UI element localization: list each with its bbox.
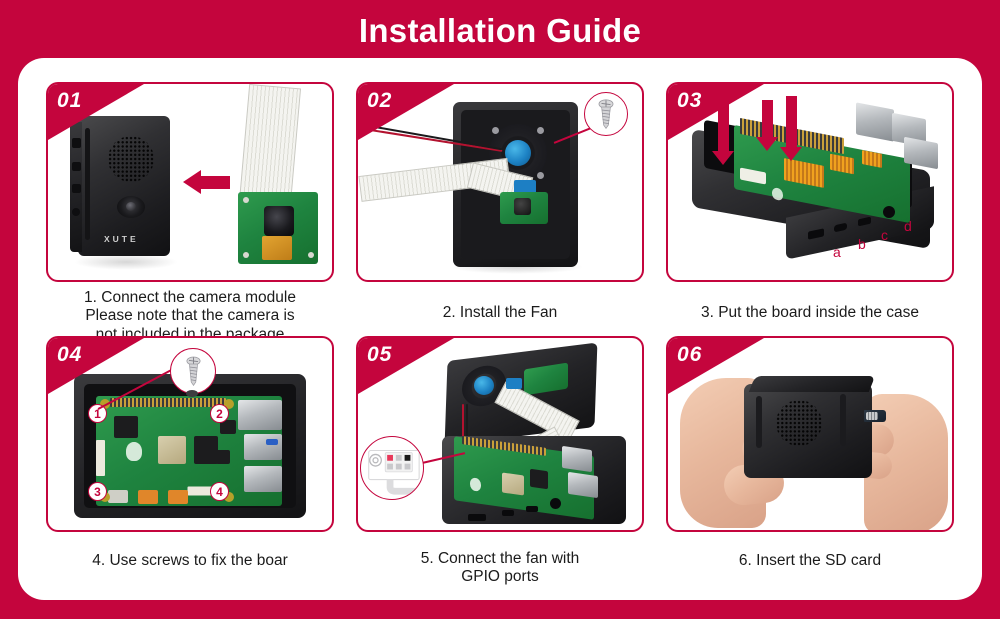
steps-grid: 01 XUTE bbox=[46, 82, 954, 584]
usb2-ports bbox=[244, 466, 282, 492]
port-sd-slot bbox=[468, 514, 486, 521]
caption-line: 6. Insert the SD card bbox=[668, 552, 952, 570]
port-label-a: a bbox=[833, 244, 841, 260]
port-audio-jack bbox=[883, 206, 895, 218]
camera-mount-hole-tl bbox=[243, 197, 249, 203]
fan-screw-tr bbox=[537, 127, 544, 134]
caption-line: Please note that the camera is bbox=[48, 307, 332, 325]
cpu-chip bbox=[502, 472, 524, 495]
step-badge-02: 02 bbox=[367, 89, 392, 113]
insert-arrow-icon-2 bbox=[762, 100, 773, 138]
gpio-header bbox=[110, 398, 226, 407]
pi-logo bbox=[470, 477, 481, 492]
step-panel-01[interactable]: 01 XUTE bbox=[46, 82, 334, 282]
camera-ribbon-cable bbox=[239, 84, 301, 206]
camera-module-lens bbox=[514, 198, 531, 215]
port-label-b: b bbox=[858, 236, 866, 252]
pmic-chip bbox=[216, 450, 230, 464]
step-caption-03: 3. Put the board inside the case bbox=[666, 304, 954, 322]
header-bar: Installation Guide bbox=[0, 0, 1000, 62]
step-caption-04: 4. Use screws to fix the boar bbox=[46, 552, 334, 570]
caption-line: GPIO ports bbox=[358, 568, 642, 586]
port-hdmi-1 bbox=[72, 162, 81, 171]
port-micro-hdmi-1 bbox=[502, 510, 514, 516]
usb3-blue-insert bbox=[266, 439, 278, 445]
case-shadow bbox=[450, 260, 584, 274]
step-cell-01: 01 XUTE bbox=[46, 82, 334, 330]
camera-lens-glass bbox=[126, 202, 136, 211]
port-audio-jack bbox=[550, 498, 561, 509]
usbc-power-port bbox=[108, 490, 128, 503]
case-standoff bbox=[186, 390, 198, 397]
vent-slot bbox=[85, 128, 90, 240]
step-panel-05[interactable]: 05 bbox=[356, 336, 644, 532]
port-audio bbox=[72, 208, 80, 216]
step-badge-01: 01 bbox=[57, 89, 82, 113]
screw-callout-circle[interactable] bbox=[170, 348, 216, 394]
step-panel-06[interactable]: 06 bbox=[666, 336, 954, 532]
step-badge-05: 05 bbox=[367, 343, 392, 367]
usb-ports-lower bbox=[568, 472, 598, 498]
screw-callout-circle[interactable] bbox=[584, 92, 628, 136]
step-cell-06: 06 6. Insert bbox=[666, 336, 954, 584]
step-caption-05: 5. Connect the fan with GPIO ports bbox=[356, 550, 644, 587]
port-hdmi-2 bbox=[72, 184, 81, 193]
speaker-grill bbox=[108, 136, 154, 182]
screw-position-3: 3 bbox=[88, 482, 107, 501]
step-cell-02: 02 bbox=[356, 82, 644, 330]
screw-position-2: 2 bbox=[210, 404, 229, 423]
port-label-d: d bbox=[904, 218, 912, 234]
page-title: Installation Guide bbox=[359, 12, 641, 50]
step-cell-03: 03 bbox=[666, 82, 954, 330]
step-caption-06: 6. Insert the SD card bbox=[666, 552, 954, 570]
caption-line: 5. Connect the fan with bbox=[358, 550, 642, 568]
ribbon-connector bbox=[506, 378, 522, 389]
insert-arrow-icon-3 bbox=[786, 96, 797, 148]
pi-logo bbox=[126, 442, 142, 461]
camera-mount-hole-bl bbox=[243, 252, 249, 258]
ethernet-port bbox=[238, 400, 282, 430]
step-badge-04: 04 bbox=[57, 343, 82, 367]
content-sheet: 01 XUTE bbox=[18, 58, 982, 600]
port-label-c: c bbox=[881, 227, 888, 243]
camera-connector bbox=[96, 440, 105, 476]
sd-card-contacts bbox=[866, 412, 878, 420]
camera-mount-hole-br bbox=[308, 252, 314, 258]
step-cell-05: 05 bbox=[356, 336, 644, 584]
step-cell-04: 04 bbox=[46, 336, 334, 584]
gpio-callout-circle[interactable] bbox=[360, 436, 424, 500]
step-panel-04[interactable]: 04 bbox=[46, 336, 334, 532]
step-panel-02[interactable]: 02 bbox=[356, 82, 644, 282]
caption-line: 3. Put the board inside the case bbox=[668, 304, 952, 322]
camera-flex-connector bbox=[262, 236, 292, 260]
caption-line: 1. Connect the camera module bbox=[48, 289, 332, 307]
ram-chip bbox=[530, 469, 548, 490]
fan-hub bbox=[505, 140, 531, 166]
fan-screw-br bbox=[537, 172, 544, 179]
step-panel-03[interactable]: 03 bbox=[666, 82, 954, 282]
case-shadow bbox=[74, 254, 178, 270]
ethernet-port bbox=[856, 102, 894, 141]
direction-arrow-icon bbox=[200, 176, 230, 189]
brand-logo: XUTE bbox=[104, 234, 139, 244]
step-badge-03: 03 bbox=[677, 89, 702, 113]
usb-ports-upper bbox=[562, 446, 592, 472]
step-caption-02: 2. Install the Fan bbox=[356, 304, 644, 322]
camera-module-lens bbox=[264, 206, 294, 236]
screw-icon bbox=[598, 99, 614, 129]
caption-line: 2. Install the Fan bbox=[358, 304, 642, 322]
fan-hub bbox=[474, 376, 494, 395]
port-micro-hdmi-2 bbox=[526, 506, 538, 512]
usb3-ports bbox=[244, 434, 282, 460]
usb-controller-chip bbox=[114, 416, 138, 438]
hdmi-port-1 bbox=[138, 490, 158, 504]
cpu-chip bbox=[158, 436, 186, 464]
caption-line: 4. Use screws to fix the boar bbox=[48, 552, 332, 570]
vent-slot-left bbox=[756, 396, 762, 448]
fan-screw-tl bbox=[492, 127, 499, 134]
step-badge-06: 06 bbox=[677, 343, 702, 367]
speaker-grill bbox=[776, 400, 822, 446]
port-usb bbox=[72, 138, 81, 148]
case-top-edge bbox=[749, 376, 875, 392]
vent-slot-right bbox=[840, 394, 846, 446]
hdmi-port-2 bbox=[168, 490, 188, 504]
gpio-pin-diagram-icon bbox=[361, 436, 423, 500]
screw-position-4: 4 bbox=[210, 482, 229, 501]
screw-icon bbox=[186, 356, 201, 386]
ram-chip bbox=[194, 436, 218, 464]
